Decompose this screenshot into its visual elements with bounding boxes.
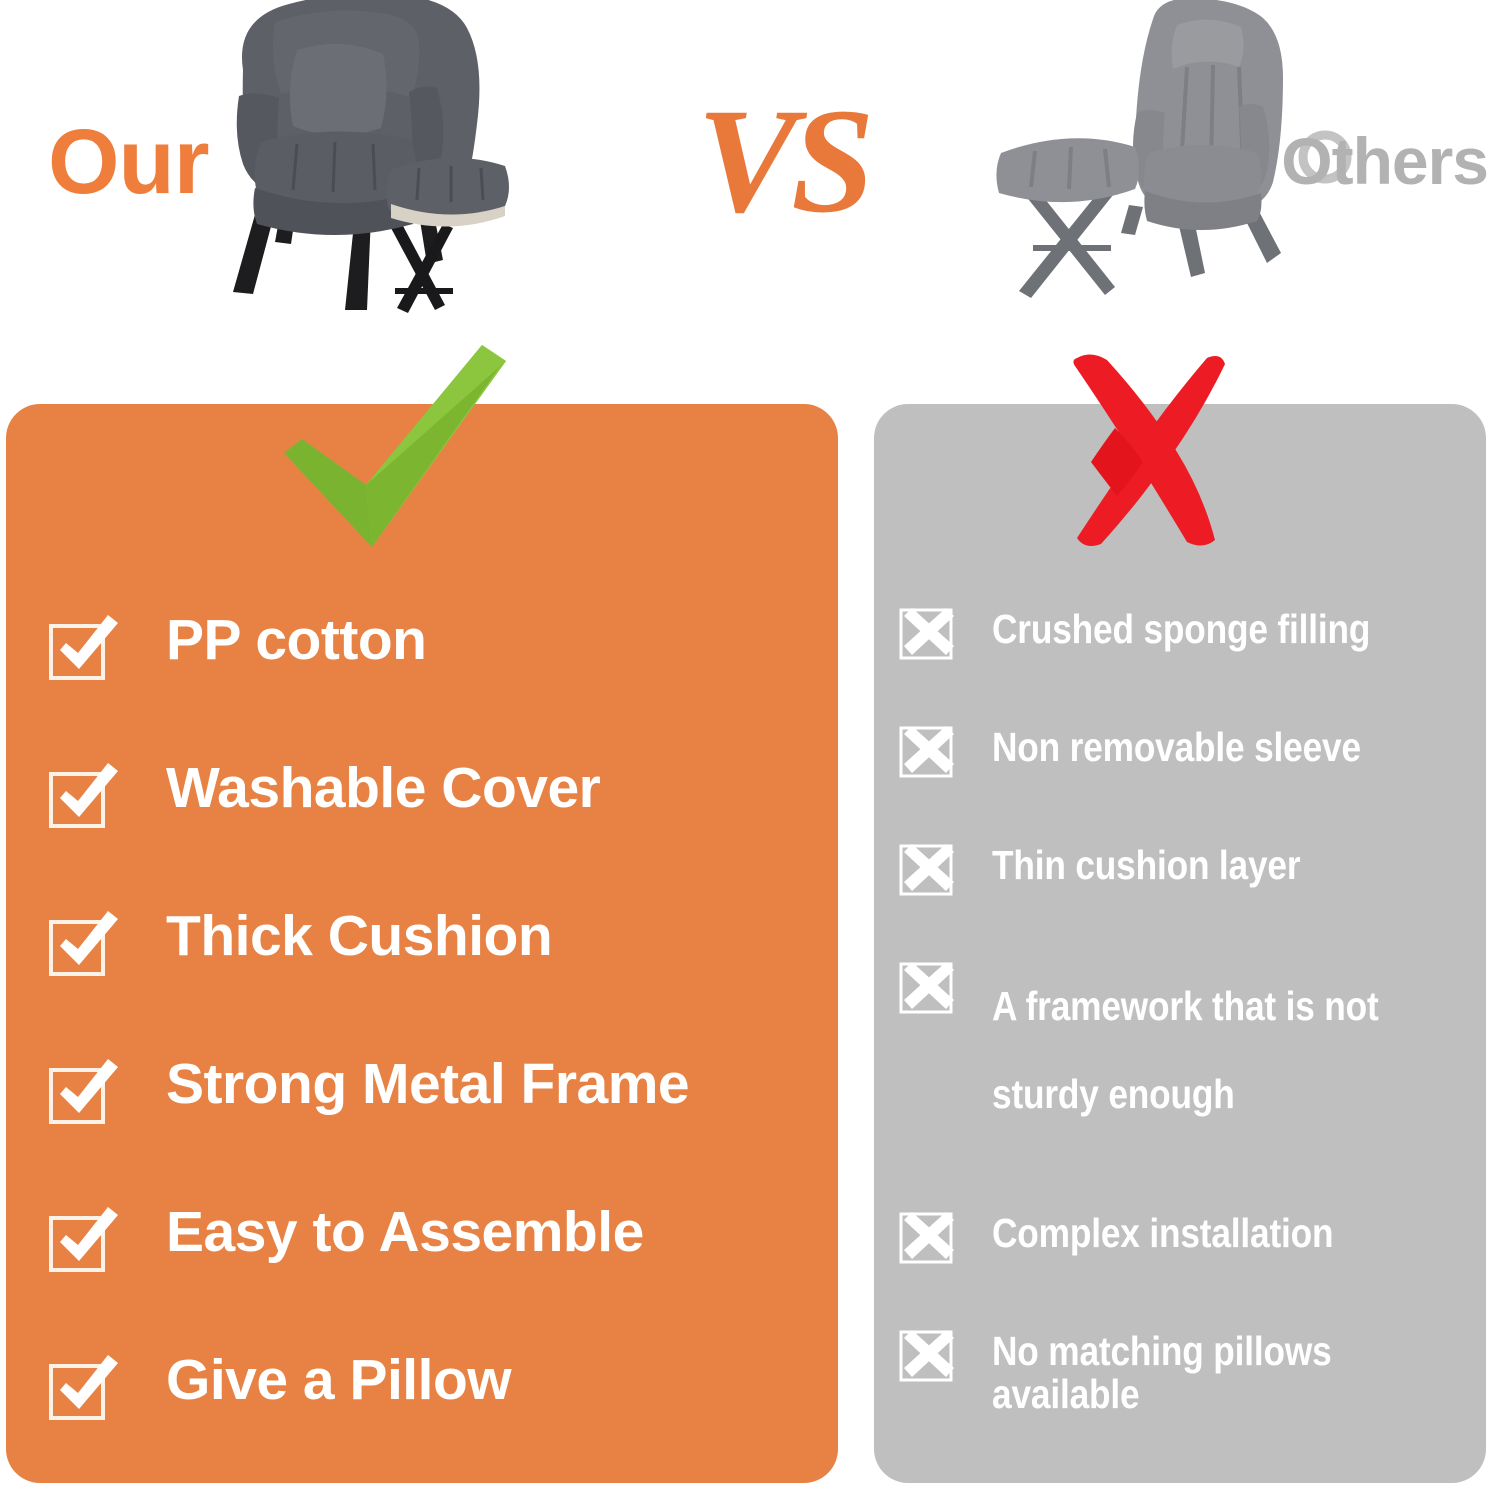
list-item-label: Thick Cushion (166, 906, 552, 966)
list-item-label: Complex installation (992, 1212, 1410, 1255)
vs-badge: VS (697, 86, 868, 236)
checkbox-crossed-icon (898, 1208, 960, 1266)
list-item: Give a Pillow (48, 1348, 818, 1496)
checkbox-checked-icon (48, 1352, 124, 1422)
list-item-label: Give a Pillow (166, 1350, 511, 1410)
list-item: Washable Cover (48, 756, 818, 904)
list-item: Thin cushion layer (898, 838, 1478, 956)
our-product-image (205, 0, 635, 332)
list-item: Thick Cushion (48, 904, 818, 1052)
checkbox-checked-icon (48, 1056, 124, 1126)
checkbox-checked-icon (48, 908, 124, 978)
list-item-label: Washable Cover (166, 758, 600, 818)
list-item: No matching pillows available (898, 1324, 1478, 1442)
list-item: Strong Metal Frame (48, 1052, 818, 1200)
list-item-label: No matching pillows available (992, 1330, 1410, 1417)
list-item-label: Easy to Assemble (166, 1202, 644, 1262)
list-item: Complex installation (898, 1206, 1478, 1324)
list-item: Crushed sponge filling (898, 602, 1478, 720)
list-item-label: Thin cushion layer (992, 844, 1410, 887)
hero-section: Our VS Others (0, 0, 1500, 410)
checkbox-checked-icon (48, 612, 124, 682)
checkbox-crossed-icon (898, 958, 960, 1016)
our-heading: Our (48, 116, 209, 208)
checkbox-crossed-icon (898, 840, 960, 898)
checkbox-checked-icon (48, 760, 124, 830)
list-item: A framework that is not sturdy enough (898, 956, 1478, 1206)
others-heading: Others (1281, 128, 1488, 194)
green-check-icon (268, 335, 518, 580)
list-item-label: Strong Metal Frame (166, 1054, 689, 1114)
our-features-list: PP cotton Washable Cover Thick Cushion S… (48, 608, 818, 1496)
list-item-label: PP cotton (166, 610, 426, 670)
others-drawbacks-list: Crushed sponge filling Non removable sle… (898, 602, 1478, 1442)
list-item: Easy to Assemble (48, 1200, 818, 1348)
checkbox-crossed-icon (898, 1326, 960, 1384)
checkbox-crossed-icon (898, 604, 960, 662)
checkbox-crossed-icon (898, 722, 960, 780)
list-item-label: A framework that is not sturdy enough (992, 962, 1410, 1138)
list-item-label: Non removable sleeve (992, 726, 1410, 769)
list-item: PP cotton (48, 608, 818, 756)
list-item: Non removable sleeve (898, 720, 1478, 838)
checkbox-checked-icon (48, 1204, 124, 1274)
list-item-label: Crushed sponge filling (992, 608, 1410, 651)
red-cross-icon (1055, 348, 1230, 548)
